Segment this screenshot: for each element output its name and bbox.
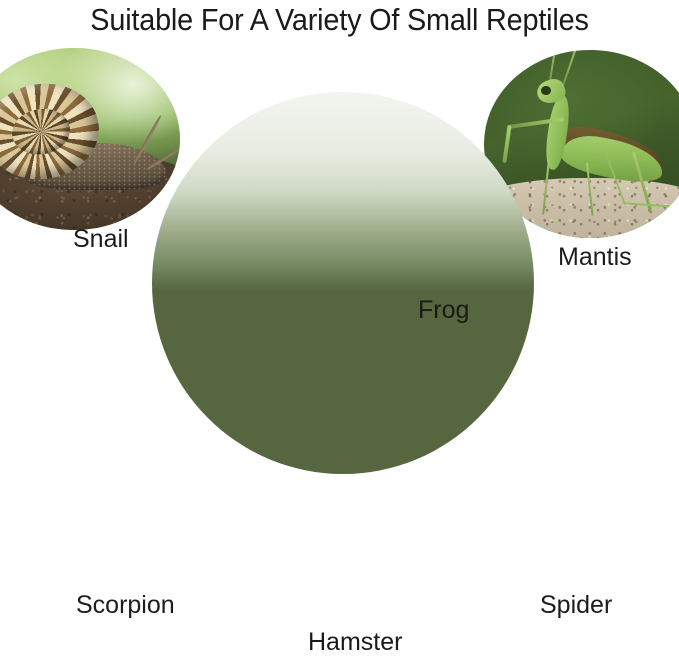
label-frog: Frog [418, 296, 469, 325]
frog-forest-left [152, 92, 335, 306]
mantis-antenna-right [562, 50, 576, 86]
mantis-eye [541, 86, 551, 95]
label-mantis: Mantis [558, 243, 632, 272]
page-title: Suitable For A Variety Of Small Reptiles [24, 2, 655, 38]
label-snail: Snail [73, 225, 129, 254]
frog-photo [152, 92, 534, 474]
label-spider: Spider [540, 591, 612, 620]
frog-photo-circle [152, 92, 534, 474]
label-scorpion: Scorpion [76, 591, 175, 620]
product-feature-graphic: Suitable For A Variety Of Small Reptiles… [0, 0, 679, 664]
label-hamster: Hamster [308, 628, 402, 657]
frog-forest-right [351, 92, 534, 306]
